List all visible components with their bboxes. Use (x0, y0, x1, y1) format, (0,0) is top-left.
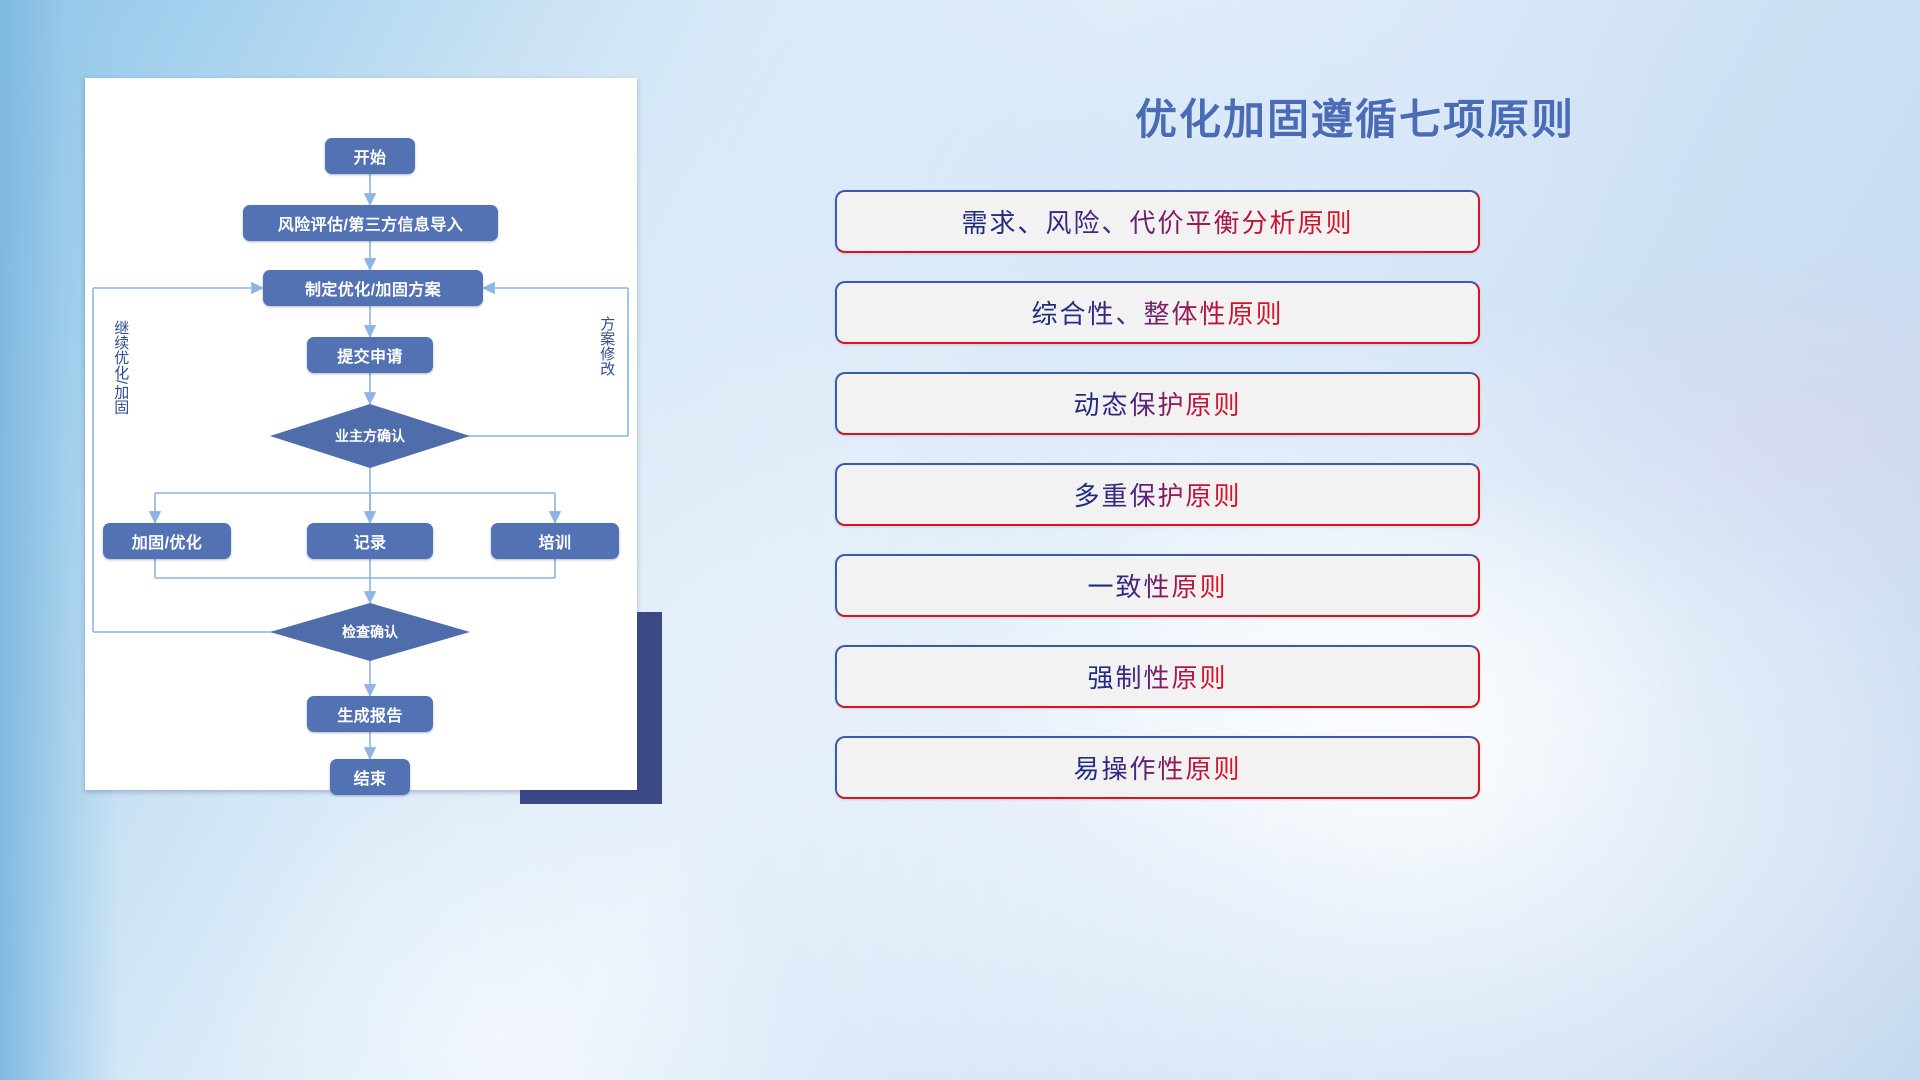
principle-item-1[interactable]: 需求、风险、代价平衡分析原则 (835, 190, 1480, 253)
principle-label: 综合性、整体性原则 (1031, 294, 1283, 331)
flow-node-generate-report[interactable]: 生成报告 (307, 696, 433, 732)
flow-node-training[interactable]: 培训 (491, 523, 619, 559)
flowchart-card: 继续优化/加固 方案修改 开始 风险评估/第三方信息导入 制定优化/加固方案 提… (85, 78, 637, 790)
flow-node-end[interactable]: 结束 (330, 759, 410, 795)
principle-label: 易操作性原则 (1073, 749, 1241, 786)
flow-edge-label-right: 方案修改 (599, 316, 614, 426)
flow-node-record[interactable]: 记录 (307, 523, 433, 559)
principle-item-5[interactable]: 一致性原则 (835, 554, 1480, 617)
principle-label: 多重保护原则 (1073, 476, 1241, 513)
flow-node-reinforce[interactable]: 加固/优化 (103, 523, 231, 559)
principles-list: 需求、风险、代价平衡分析原则 综合性、整体性原则 动态保护原则 多重保护原则 一… (835, 190, 1480, 827)
principle-label: 需求、风险、代价平衡分析原则 (961, 203, 1353, 240)
principle-label: 一致性原则 (1087, 567, 1227, 604)
flow-node-plan[interactable]: 制定优化/加固方案 (263, 270, 483, 306)
flow-node-start[interactable]: 开始 (325, 138, 415, 174)
principle-item-7[interactable]: 易操作性原则 (835, 736, 1480, 799)
principles-panel: 优化加固遵循七项原则 需求、风险、代价平衡分析原则 综合性、整体性原则 动态保护… (790, 0, 1920, 1080)
principle-item-2[interactable]: 综合性、整体性原则 (835, 281, 1480, 344)
flow-edge-label-left: 继续优化/加固 (113, 320, 128, 460)
principle-item-6[interactable]: 强制性原则 (835, 645, 1480, 708)
principle-item-4[interactable]: 多重保护原则 (835, 463, 1480, 526)
principle-label: 强制性原则 (1087, 658, 1227, 695)
principle-label: 动态保护原则 (1073, 385, 1241, 422)
principle-item-3[interactable]: 动态保护原则 (835, 372, 1480, 435)
flow-node-risk-assessment[interactable]: 风险评估/第三方信息导入 (243, 205, 498, 241)
flow-node-submit-application[interactable]: 提交申请 (307, 337, 433, 373)
panel-title: 优化加固遵循七项原则 (790, 86, 1920, 147)
